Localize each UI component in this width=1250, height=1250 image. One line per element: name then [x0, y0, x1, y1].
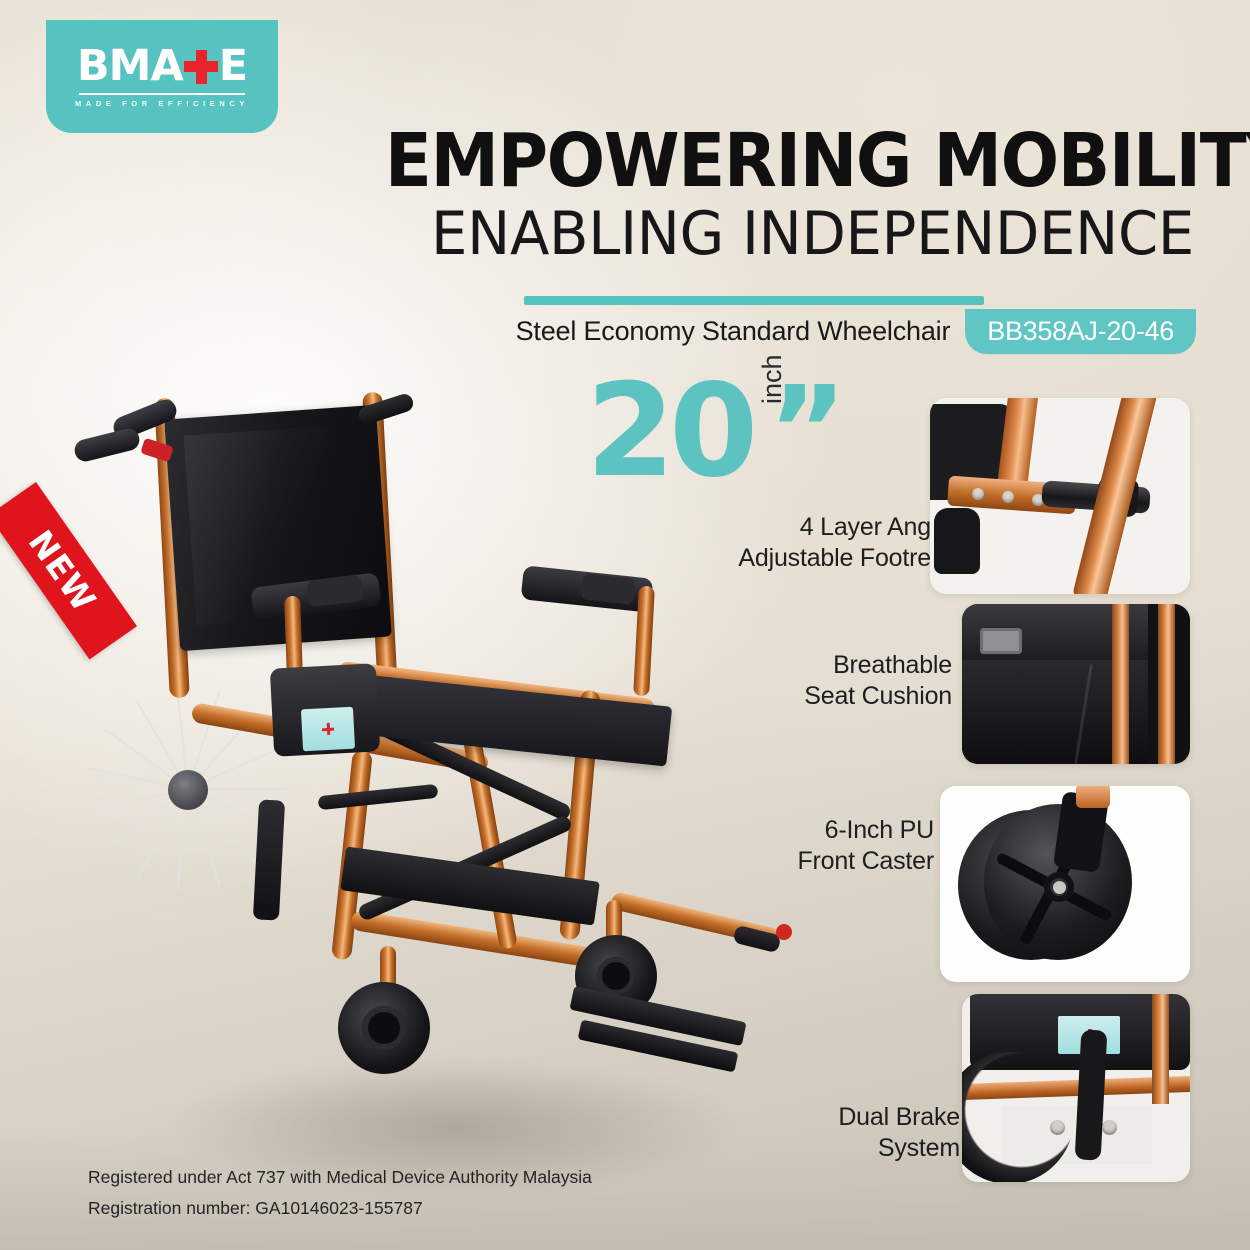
regulatory-footer: Registered under Act 737 with Medical De…: [88, 1162, 592, 1223]
feature-thumbnail-footrest: [930, 398, 1190, 594]
brand-tagline: MADE FOR EFFICIENCY: [75, 99, 249, 108]
feature-label-line1: Dual Brake: [838, 1102, 960, 1133]
armrest-pad-right: [581, 573, 635, 604]
feature-thumbnail-front-caster: [940, 786, 1190, 982]
brand-sticker-icon: [301, 707, 355, 752]
logo-divider: [79, 93, 245, 95]
product-name-bar: Steel Economy Standard Wheelchair BB358A…: [524, 296, 1196, 354]
feature-label-line2: System: [838, 1133, 960, 1164]
front-caster-left-hub: [362, 1006, 406, 1050]
brand-logo-text-right: E: [219, 45, 247, 88]
rear-wheel-hub: [168, 770, 208, 810]
footrest-endcap: [776, 924, 792, 940]
brand-logo-wordmark: BMA E: [77, 45, 247, 88]
brand-logo-text-left: BMA: [77, 45, 183, 88]
poster-canvas: BMA E MADE FOR EFFICIENCY EMPOWERING MOB…: [0, 0, 1250, 1250]
footer-line-1: Registered under Act 737 with Medical De…: [88, 1162, 592, 1193]
wheel-lock-lever: [318, 784, 439, 810]
brand-logo-panel: BMA E MADE FOR EFFICIENCY: [46, 20, 278, 133]
headline-primary: EMPOWERING MOBILITY: [385, 126, 1194, 197]
feature-thumbnail-seat-cushion: [962, 604, 1190, 764]
front-caster-right-hub: [597, 957, 635, 995]
product-hero-image: [50, 390, 880, 1090]
push-handle-grip-brake: [72, 426, 141, 463]
accent-rule: [524, 296, 984, 305]
medical-cross-icon: [184, 50, 218, 84]
feature-label-dual-brake: Dual Brake System: [838, 1102, 960, 1164]
brake-arm: [253, 799, 285, 920]
headline-secondary: ENABLING INDEPENDENCE: [359, 203, 1194, 267]
headline-block: EMPOWERING MOBILITY ENABLING INDEPENDENC…: [324, 126, 1194, 267]
feature-thumbnail-dual-brake: [962, 994, 1190, 1182]
footer-line-2: Registration number: GA10146023-155787: [88, 1193, 592, 1224]
product-model-badge: BB358AJ-20-46: [965, 309, 1196, 354]
product-name: Steel Economy Standard Wheelchair: [516, 309, 966, 354]
frame-support-diagonal: [460, 720, 518, 950]
